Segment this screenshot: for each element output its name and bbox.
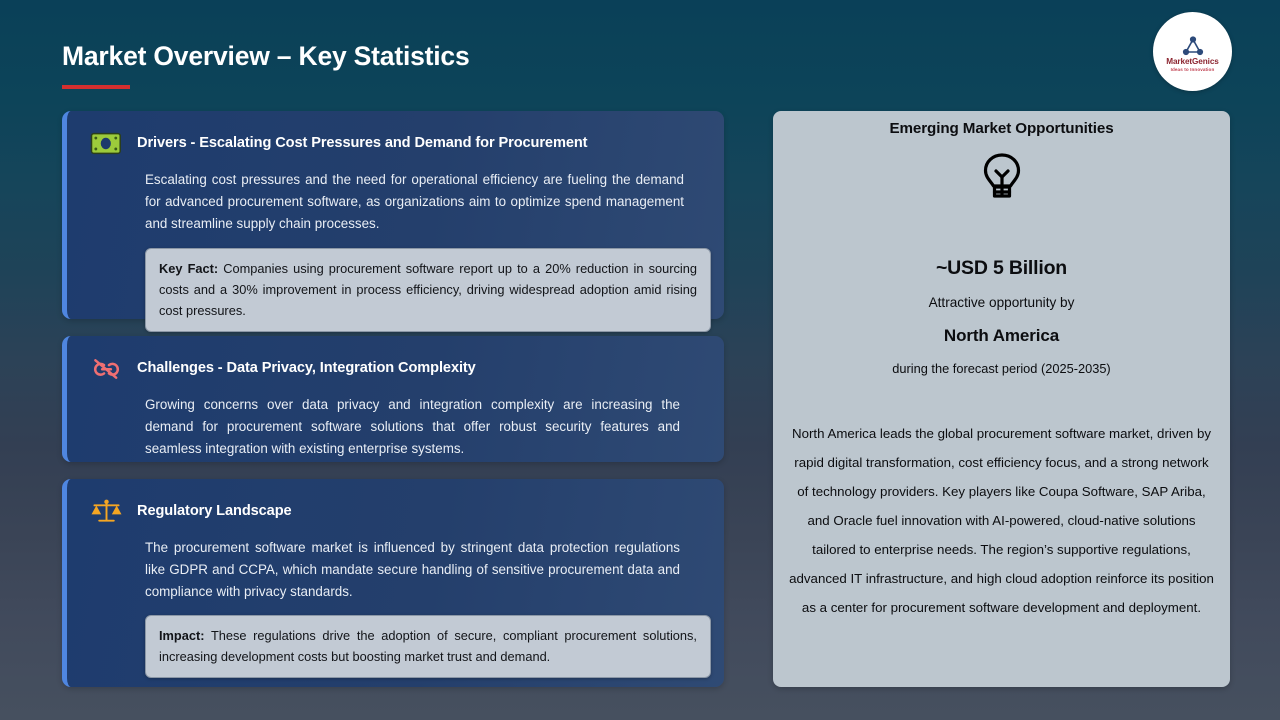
- money-icon: [89, 128, 123, 158]
- callout-text: These regulations drive the adoption of …: [159, 628, 697, 664]
- logo-name: MarketGenics: [1166, 58, 1219, 66]
- card-header: Challenges - Data Privacy, Integration C…: [67, 336, 724, 383]
- slide-header: Market Overview – Key Statistics: [0, 0, 1280, 100]
- card-body-text: Growing concerns over data privacy and i…: [145, 394, 680, 460]
- stat-value: ~USD 5 Billion: [773, 257, 1230, 280]
- title-underline: [62, 85, 130, 89]
- card-challenges[interactable]: Challenges - Data Privacy, Integration C…: [62, 336, 724, 462]
- emerging-opportunities-panel[interactable]: Emerging Market Opportunities ~USD 5 Bil…: [773, 111, 1230, 687]
- callout-label: Key Fact:: [159, 261, 218, 276]
- panel-description: North America leads the global procureme…: [789, 419, 1214, 622]
- card-regulatory[interactable]: Regulatory Landscape The procurement sof…: [62, 479, 724, 687]
- impact-callout: Impact: These regulations drive the adop…: [145, 615, 711, 678]
- card-title: Challenges - Data Privacy, Integration C…: [137, 360, 476, 376]
- card-title: Drivers - Escalating Cost Pressures and …: [137, 135, 587, 151]
- key-fact-callout: Key Fact: Companies using procurement so…: [145, 248, 711, 332]
- logo-tagline: Ideas to Innovation: [1171, 68, 1215, 73]
- card-title: Regulatory Landscape: [137, 503, 292, 519]
- panel-title: Emerging Market Opportunities: [773, 120, 1230, 137]
- broken-link-icon: [89, 353, 123, 383]
- callout-text: Companies using procurement software rep…: [159, 261, 697, 318]
- card-drivers[interactable]: Drivers - Escalating Cost Pressures and …: [62, 111, 724, 319]
- callout-label: Impact:: [159, 628, 205, 643]
- card-body-text: The procurement software market is influ…: [145, 537, 680, 603]
- network-nodes-icon: [1180, 35, 1206, 57]
- balance-scales-icon: [89, 496, 123, 526]
- page-title: Market Overview – Key Statistics: [62, 41, 470, 72]
- stat-subtitle-1: Attractive opportunity by: [773, 295, 1230, 310]
- stat-region: North America: [773, 326, 1230, 346]
- card-header: Regulatory Landscape: [67, 479, 724, 526]
- brand-logo: MarketGenics Ideas to Innovation: [1153, 12, 1232, 91]
- stat-subtitle-2: during the forecast period (2025-2035): [773, 361, 1230, 376]
- card-header: Drivers - Escalating Cost Pressures and …: [67, 111, 724, 158]
- lightbulb-icon: [773, 151, 1230, 211]
- card-body-text: Escalating cost pressures and the need f…: [145, 169, 684, 235]
